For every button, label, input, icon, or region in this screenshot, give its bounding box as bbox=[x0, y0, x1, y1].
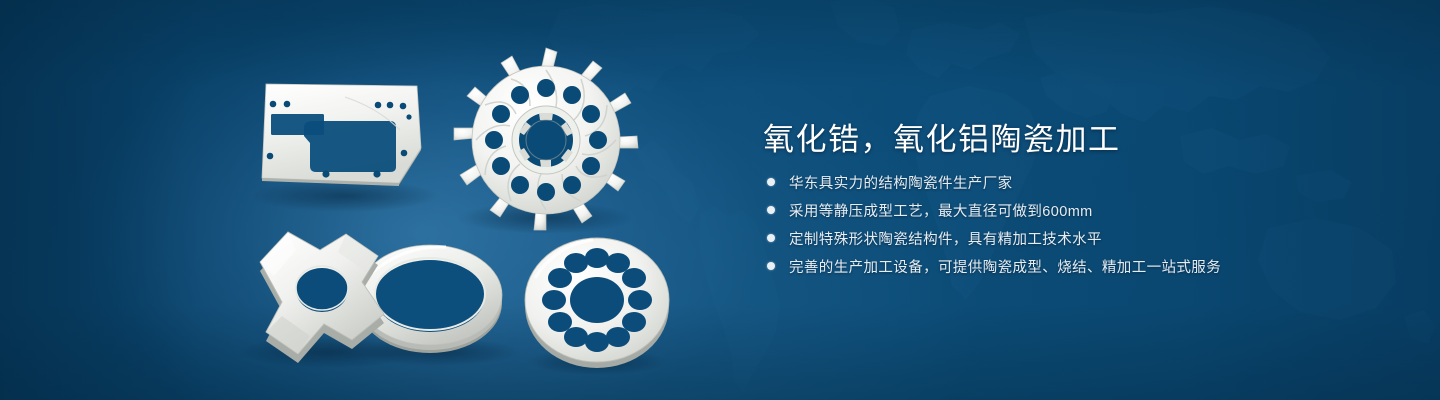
bullet-dot-icon bbox=[767, 206, 775, 214]
list-item-label: 完善的生产加工设备，可提供陶瓷成型、烧结、精加工一站式服务 bbox=[789, 256, 1221, 277]
bullet-dot-icon bbox=[767, 234, 775, 242]
bullet-dot-icon bbox=[767, 178, 775, 186]
list-item-label: 华东具实力的结构陶瓷件生产厂家 bbox=[789, 172, 1013, 193]
bullet-dot-icon bbox=[767, 262, 775, 270]
list-item-label: 采用等静压成型工艺，最大直径可做到600mm bbox=[789, 200, 1093, 221]
list-item: 完善的生产加工设备，可提供陶瓷成型、烧结、精加工一站式服务 bbox=[767, 254, 1221, 278]
ceramic-ring-image bbox=[358, 245, 502, 353]
list-item: 定制特殊形状陶瓷结构件，具有精加工技术水平 bbox=[767, 226, 1221, 250]
ceramic-mounting-plate-image bbox=[262, 84, 421, 186]
ceramic-perforated-disc-image bbox=[525, 238, 669, 368]
ceramic-impeller-disc-image bbox=[454, 48, 638, 230]
list-item: 华东具实力的结构陶瓷件生产厂家 bbox=[767, 170, 1221, 194]
list-item-label: 定制特殊形状陶瓷结构件，具有精加工技术水平 bbox=[789, 228, 1102, 249]
page-title: 氧化锆，氧化铝陶瓷加工 bbox=[763, 114, 1121, 159]
ceramic-products-collage bbox=[0, 0, 760, 400]
banner-copy: 氧化锆，氧化铝陶瓷加工 华东具实力的结构陶瓷件生产厂家 采用等静压成型工艺，最大… bbox=[763, 0, 1403, 400]
ceramic-products-banner: 氧化锆，氧化铝陶瓷加工 华东具实力的结构陶瓷件生产厂家 采用等静压成型工艺，最大… bbox=[0, 0, 1440, 400]
list-item: 采用等静压成型工艺，最大直径可做到600mm bbox=[767, 198, 1221, 222]
feature-list: 华东具实力的结构陶瓷件生产厂家 采用等静压成型工艺，最大直径可做到600mm 定… bbox=[767, 170, 1221, 282]
